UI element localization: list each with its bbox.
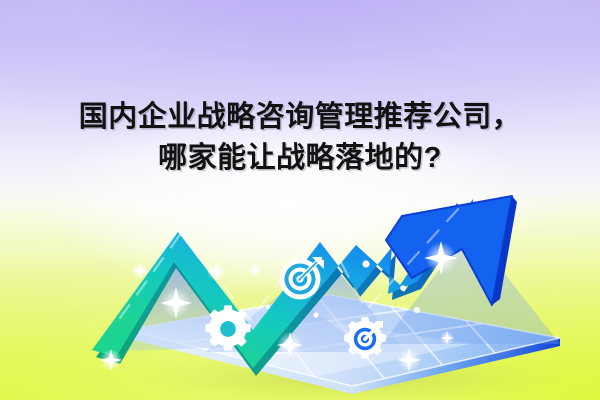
gear-target-icon [344, 317, 386, 359]
title-line-2: 哪家能让战略落地的? [0, 138, 600, 179]
growth-chart-illustration [0, 0, 600, 400]
poster-canvas: 国内企业战略咨询管理推荐公司， 哪家能让战略落地的? [0, 0, 600, 400]
title-line-1: 国内企业战略咨询管理推荐公司， [0, 97, 600, 138]
gear-icon [205, 305, 250, 350]
page-title: 国内企业战略咨询管理推荐公司， 哪家能让战略落地的? [0, 97, 600, 179]
